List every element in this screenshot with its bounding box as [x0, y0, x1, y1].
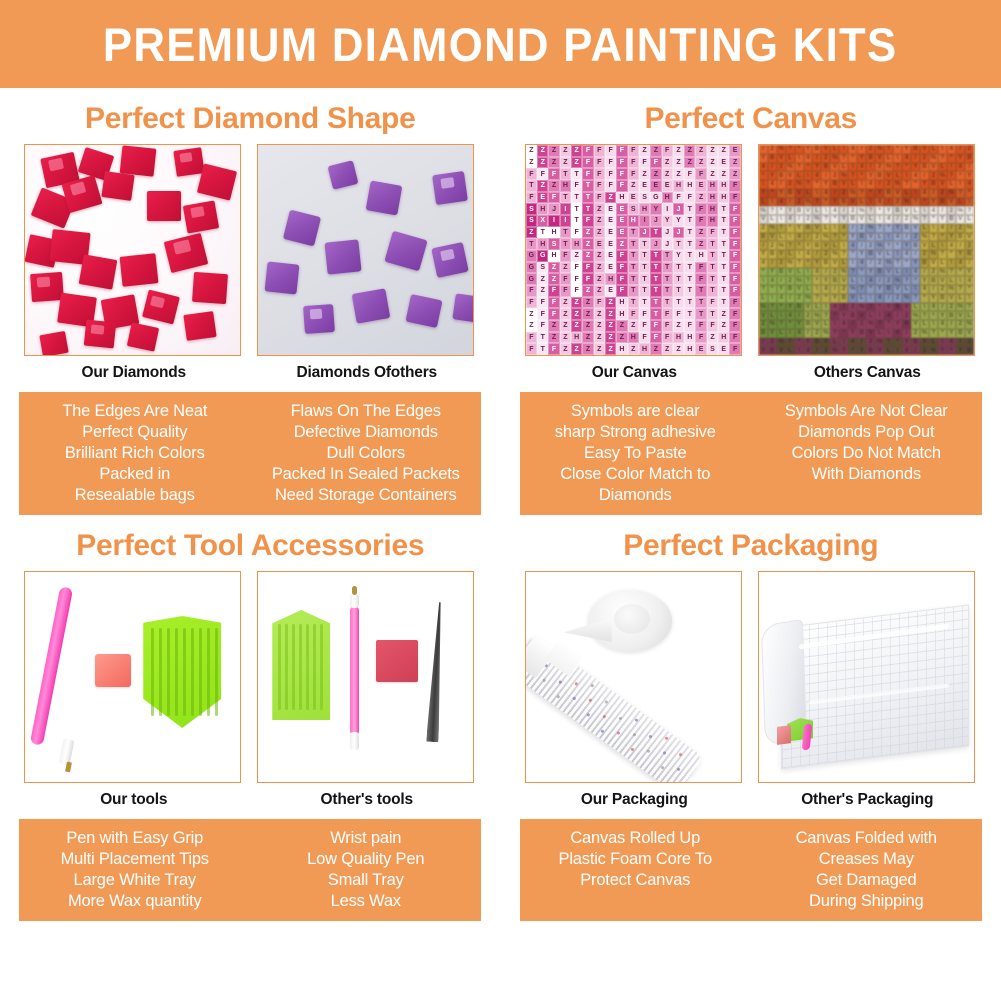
canvas-symbol-cell: T [684, 238, 695, 250]
canvas-symbol-cell: Z [560, 320, 571, 332]
canvas-symbol-cell: T [662, 273, 673, 285]
blurry-canvas-cell: V [866, 233, 875, 242]
red-diamond [147, 191, 181, 221]
blurry-canvas-cell: L [795, 171, 804, 180]
blurry-canvas-cell: / [866, 259, 875, 268]
canvas-symbol-cell: T [628, 273, 639, 285]
blurry-canvas-cell: 2 [812, 329, 821, 338]
blurry-canvas-cell: / [893, 311, 902, 320]
canvas-symbol-cell: S [628, 203, 639, 215]
canvas-symbol-cell: F [729, 320, 740, 332]
canvas-symbol-cell: F [695, 168, 706, 180]
canvas-symbol-cell: X [537, 215, 548, 227]
cell-other-diamonds: Diamonds Ofothers [257, 144, 476, 382]
canvas-symbol-cell: Z [594, 285, 605, 297]
blurry-canvas-cell: L [759, 294, 768, 303]
blurry-canvas-cell: L [866, 215, 875, 224]
canvas-symbol-cell: T [684, 308, 695, 320]
blurry-canvas-cell: L [911, 206, 920, 215]
canvas-symbol-cell: Z [537, 285, 548, 297]
blurry-canvas-cell: B [929, 276, 938, 285]
canvas-symbol-cell: H [571, 238, 582, 250]
canvas-symbol-cell: F [571, 227, 582, 239]
canvas-symbol-cell: Z [560, 308, 571, 320]
blurry-canvas-cell: 4 [804, 250, 813, 259]
canvas-symbol-cell: F [729, 203, 740, 215]
purple-square-diamonds-photo [257, 144, 474, 356]
blurry-canvas-cell: * [920, 294, 929, 303]
tray-groove [306, 624, 308, 710]
canvas-symbol-cell: T [707, 285, 718, 297]
blurry-canvas-cell: Y [956, 154, 965, 163]
blurry-canvas-cell: * [830, 311, 839, 320]
canvas-symbol-cell: H [628, 215, 639, 227]
canvas-symbol-cell: S [548, 238, 559, 250]
canvas-symbol-cell: F [729, 285, 740, 297]
blurry-canvas-cell: % [804, 294, 813, 303]
blurry-canvas-cell: Y [884, 303, 893, 312]
canvas-symbol-cell: Z [582, 332, 593, 344]
blurry-canvas-cell: V [812, 320, 821, 329]
canvas-symbol-cell: Z [560, 157, 571, 169]
blurry-canvas-cell: % [821, 329, 830, 338]
blurry-canvas-cell: % [857, 303, 866, 312]
diamond-facet [37, 276, 51, 287]
blurry-canvas-cell: 4 [875, 198, 884, 207]
canvas-symbol-cell: Z [707, 145, 718, 157]
blurry-canvas-cell: V [911, 224, 920, 233]
canvas-symbol-cell: Z [537, 273, 548, 285]
canvas-symbol-cell: H [548, 250, 559, 262]
canvas-symbol-cell: Z [718, 308, 729, 320]
canvas-symbol-cell: T [628, 297, 639, 309]
blurry-canvas-cell: V [875, 154, 884, 163]
blurry-canvas-cell: * [848, 154, 857, 163]
blurry-canvas-cell: * [893, 145, 902, 154]
blurry-canvas-cell: B [920, 163, 929, 172]
canvas-symbol-cell: Z [729, 157, 740, 169]
blurry-canvas-cell: Y [947, 329, 956, 338]
canvas-symbol-cell: E [605, 250, 616, 262]
blurry-canvas-cell: V [866, 329, 875, 338]
textline: sharp Strong adhesive [523, 422, 748, 443]
blurry-canvas-cell: B [965, 154, 974, 163]
blurry-canvas-cell: L [875, 329, 884, 338]
blurry-canvas-cell: ? [795, 259, 804, 268]
blurry-canvas-cell: L [893, 268, 902, 277]
canvas-symbol-cell: Z [594, 273, 605, 285]
textcol-our-diamonds: The Edges Are NeatPerfect QualityBrillia… [19, 401, 250, 506]
blurry-canvas-cell: V [902, 303, 911, 312]
textcol-other-diamonds: Flaws On The EdgesDefective DiamondsDull… [250, 401, 481, 506]
blurry-canvas-cell: V [965, 233, 974, 242]
blurry-canvas-cell: \ [902, 268, 911, 277]
tray-groove [278, 624, 280, 710]
blurry-canvas-cell: B [768, 250, 777, 259]
blurry-canvas-cell: \ [812, 285, 821, 294]
blurry-canvas-cell: 2 [884, 180, 893, 189]
blurry-canvas-cell: ? [839, 154, 848, 163]
blurry-canvas-cell: Y [795, 224, 804, 233]
canvas-symbol-cell: Z [571, 343, 582, 355]
blurry-canvas-cell: 4 [812, 268, 821, 277]
blurry-canvas-cell: 4 [902, 346, 911, 355]
blurry-canvas-cell: / [777, 276, 786, 285]
canvas-symbol-cell: F [707, 320, 718, 332]
canvas-symbol-cell: T [628, 238, 639, 250]
tube-cap-inner [614, 604, 650, 634]
tray-groove [215, 628, 218, 716]
canvas-symbol-cell: T [639, 297, 650, 309]
blurry-canvas-cell: B [804, 320, 813, 329]
textbox-canvas: Symbols are clearsharp Strong adhesiveEa… [520, 392, 982, 515]
tray-groove [191, 628, 194, 716]
rolled-canvas-tube-photo [525, 571, 742, 783]
blurry-canvas-cell: * [804, 163, 813, 172]
canvas-symbol-cell: F [594, 168, 605, 180]
blurry-canvas-cell: 4 [839, 320, 848, 329]
tray-groove [151, 628, 154, 716]
blurry-canvas-cell: / [830, 285, 839, 294]
textcol-our-canvas: Symbols are clearsharp Strong adhesiveEa… [520, 401, 751, 506]
textline: Small Tray [253, 870, 478, 891]
blurry-canvas-cell: % [875, 338, 884, 347]
textcol-other-packaging: Canvas Folded withCreases MayGet Damaged… [751, 828, 982, 912]
textline: Multi Placement Tips [22, 849, 247, 870]
canvas-symbol-cell: Z [571, 250, 582, 262]
blurry-canvas-cell: 2 [893, 198, 902, 207]
blurry-canvas-cell: 4 [902, 250, 911, 259]
blurry-canvas-cell: / [929, 189, 938, 198]
blurry-canvas-cell: 2 [759, 224, 768, 233]
blurry-canvas-cell: % [875, 145, 884, 154]
canvas-symbol-cell: Z [650, 343, 661, 355]
blurry-canvas-cell: V [902, 206, 911, 215]
blurry-canvas-cell: ? [830, 233, 839, 242]
blurry-canvas-cell: * [768, 285, 777, 294]
canvas-symbol-cell: F [628, 157, 639, 169]
textline: Pen with Easy Grip [22, 828, 247, 849]
blurry-canvas-cell: \ [965, 198, 974, 207]
textline: Canvas Folded with [754, 828, 979, 849]
blurry-canvas-cell: B [956, 233, 965, 242]
blurry-canvas-cell: \ [804, 171, 813, 180]
canvas-symbol-cell: Z [673, 157, 684, 169]
textbox-diamond-shape: The Edges Are NeatPerfect QualityBrillia… [19, 392, 481, 515]
blurry-canvas-cell: / [812, 346, 821, 355]
canvas-symbol-cell: F [548, 285, 559, 297]
blurry-canvas-cell: \ [884, 329, 893, 338]
blurry-canvas-cell: % [893, 276, 902, 285]
canvas-symbol-cell: F [729, 238, 740, 250]
blurry-canvas-cell: ? [920, 311, 929, 320]
blurry-canvas-cell: % [920, 233, 929, 242]
blurry-canvas-cell: 2 [911, 329, 920, 338]
blurry-canvas-cell: L [804, 285, 813, 294]
blurry-canvas-cell: 4 [965, 180, 974, 189]
blurry-canvas-cell: / [786, 198, 795, 207]
textcol-others-canvas: Symbols Are Not ClearDiamonds Pop OutCol… [751, 401, 982, 506]
canvas-symbol-cell: Z [560, 262, 571, 274]
blurry-canvas-cell: L [902, 189, 911, 198]
canvas-symbol-cell: Z [582, 250, 593, 262]
blurry-canvas-cell: V [777, 154, 786, 163]
blurry-canvas-cell: 2 [795, 294, 804, 303]
blurry-canvas-cell: / [821, 171, 830, 180]
blurry-canvas-cell: L [857, 198, 866, 207]
blurry-canvas-cell: 2 [839, 189, 848, 198]
blurry-canvas-cell: L [804, 189, 813, 198]
canvas-symbol-cell: F [537, 168, 548, 180]
blurry-canvas-cell: V [777, 250, 786, 259]
canvas-symbol-cell: F [616, 145, 627, 157]
canvas-symbol-cell: T [673, 297, 684, 309]
canvas-symbol-cell: F [526, 343, 537, 355]
canvas-symbol-cell: T [571, 215, 582, 227]
canvas-symbol-cell: Z [707, 168, 718, 180]
tray-groove [313, 624, 315, 710]
blurry-canvas-cell: / [830, 189, 839, 198]
canvas-symbol-cell: T [639, 238, 650, 250]
canvas-symbol-cell: T [650, 250, 661, 262]
blurry-canvas-cell: * [848, 346, 857, 355]
canvas-symbol-cell: E [639, 180, 650, 192]
purple-diamond [265, 261, 300, 294]
canvas-symbol-cell: Z [695, 238, 706, 250]
blurry-canvas-cell: 4 [920, 285, 929, 294]
blurry-canvas-cell: B [938, 294, 947, 303]
canvas-symbol-cell: Z [662, 168, 673, 180]
blurry-canvas-cell: L [920, 320, 929, 329]
purple-diamond [352, 288, 391, 323]
blurry-canvas-cell: 4 [893, 329, 902, 338]
canvas-symbol-cell: F [560, 285, 571, 297]
textline: Easy To Paste [523, 443, 748, 464]
blurry-canvas-cell: 2 [920, 346, 929, 355]
blurry-canvas-cell: ? [947, 268, 956, 277]
blurry-canvas-cell: Y [812, 163, 821, 172]
blurry-canvas-cell: L [929, 241, 938, 250]
caption-others-canvas: Others Canvas [758, 364, 977, 382]
blurry-canvas-cell: Y [965, 268, 974, 277]
canvas-symbol-cell: E [718, 343, 729, 355]
canvas-symbol-cell: Z [560, 332, 571, 344]
blurry-canvas-cell: Y [920, 276, 929, 285]
blurry-canvas-cell: / [902, 329, 911, 338]
canvas-symbol-cell: Z [616, 238, 627, 250]
blurry-canvas-cell: 4 [938, 224, 947, 233]
blurry-canvas-cell: * [902, 163, 911, 172]
blurry-canvas-cell: \ [848, 259, 857, 268]
canvas-symbol-cell: F [548, 168, 559, 180]
blurry-canvas-cell: / [947, 224, 956, 233]
blurry-canvas-cell: L [947, 180, 956, 189]
canvas-symbol-cell: F [571, 262, 582, 274]
blurry-canvas-cell: 4 [821, 189, 830, 198]
blurry-canvas-cell: 2 [848, 303, 857, 312]
photo-pair-diamond-shape: Our Diamonds Diamonds Ofothers [0, 144, 501, 382]
blurry-canvas-cell: ? [938, 346, 947, 355]
blurry-canvas-cell: / [875, 276, 884, 285]
blurry-canvas-cell: % [920, 329, 929, 338]
blurry-canvas-cell: ? [875, 320, 884, 329]
canvas-symbol-cell: Z [582, 227, 593, 239]
blurry-canvas-cell: Y [947, 233, 956, 242]
canvas-symbol-cell: F [695, 332, 706, 344]
blurry-canvas-cell: * [839, 233, 848, 242]
blurry-canvas-cell: L [786, 346, 795, 355]
blurry-canvas-cell: ? [812, 294, 821, 303]
canvas-symbol-cell: I [560, 215, 571, 227]
canvas-symbol-cell: T [718, 215, 729, 227]
blurry-canvas-cell: % [848, 189, 857, 198]
canvas-symbol-cell: T [718, 203, 729, 215]
canvas-symbol-cell: F [616, 250, 627, 262]
blurry-canvas-cell: L [786, 250, 795, 259]
canvas-symbol-cell: Z [594, 320, 605, 332]
photo-pair-canvas: ZZZZZFFFFFZZFZZZZZEZZZZZFFFFFFFZZZZZEZFF… [501, 144, 1001, 382]
textline: Creases May [754, 849, 979, 870]
blurry-canvas-cell: 2 [929, 268, 938, 277]
canvas-symbol-cell: H [537, 203, 548, 215]
blurry-canvas-cell: \ [768, 294, 777, 303]
canvas-symbol-cell: Z [594, 343, 605, 355]
blurry-canvas-cell: B [902, 320, 911, 329]
blurry-canvas-cell: B [947, 215, 956, 224]
section-canvas: Perfect Canvas ZZZZZFFFFFZZFZZZZZEZZZZZF… [501, 88, 1001, 515]
blurry-canvas-cell: Y [848, 233, 857, 242]
blurry-canvas-cell: % [911, 311, 920, 320]
blurry-canvas-cell: 4 [768, 180, 777, 189]
canvas-symbol-cell: F [560, 273, 571, 285]
blurry-canvas-cell: Y [902, 145, 911, 154]
blurry-canvas-cell: Y [795, 320, 804, 329]
blurry-canvas-cell: L [848, 180, 857, 189]
canvas-symbol-cell: F [650, 157, 661, 169]
blurry-canvas-cell: V [956, 311, 965, 320]
canvas-symbol-cell: T [684, 273, 695, 285]
section-title-canvas: Perfect Canvas [501, 102, 1001, 136]
blurry-canvas-cell: \ [911, 189, 920, 198]
canvas-symbol-cell: E [605, 215, 616, 227]
blurry-canvas-cell: V [848, 294, 857, 303]
blurry-canvas-cell: Y [804, 241, 813, 250]
blurry-canvas-cell: Y [830, 198, 839, 207]
canvas-symbol-cell: Z [673, 168, 684, 180]
canvas-symbol-cell: F [548, 308, 559, 320]
canvas-symbol-cell: F [548, 343, 559, 355]
blurry-canvas-cell: 4 [911, 268, 920, 277]
canvas-symbol-cell: F [673, 308, 684, 320]
blurry-canvas-cell: / [812, 154, 821, 163]
blurry-canvas-cell: ? [786, 145, 795, 154]
canvas-symbol-cell: T [662, 262, 673, 274]
blurry-canvas-cell: Y [875, 285, 884, 294]
canvas-symbol-cell: F [616, 168, 627, 180]
canvas-symbol-cell: Z [594, 227, 605, 239]
canvas-symbol-cell: H [616, 297, 627, 309]
blurry-canvas-cell: \ [920, 303, 929, 312]
blurry-canvas-cell: L [947, 276, 956, 285]
blurry-canvas-cell: Y [875, 189, 884, 198]
blurry-canvas-cell: / [947, 320, 956, 329]
canvas-symbol-cell: F [673, 192, 684, 204]
textline: Packed In Sealed Packets [253, 464, 478, 485]
canvas-symbol-cell: T [650, 308, 661, 320]
canvas-symbol-cell: E [616, 215, 627, 227]
blurry-canvas-cell: % [947, 189, 956, 198]
blurry-canvas-cell: 2 [768, 241, 777, 250]
blurry-canvas-cell: ? [786, 338, 795, 347]
textline: Less Wax [253, 891, 478, 912]
blurry-canvas-cell: V [929, 259, 938, 268]
textline: During Shipping [754, 891, 979, 912]
canvas-symbol-cell: T [684, 297, 695, 309]
blurry-canvas-cell: % [830, 346, 839, 355]
blurry-canvas-cell: B [866, 154, 875, 163]
canvas-symbol-cell: T [707, 308, 718, 320]
blurry-canvas-cell: \ [857, 180, 866, 189]
blurry-canvas-cell: 2 [956, 320, 965, 329]
canvas-symbol-cell: J [662, 227, 673, 239]
blurry-canvas-cell: 4 [884, 215, 893, 224]
blurry-canvas-cell: L [821, 224, 830, 233]
blurry-canvas-cell: ? [938, 154, 947, 163]
canvas-symbol-cell: F [729, 250, 740, 262]
blurry-canvas-cell: V [947, 198, 956, 207]
blurry-canvas-cell: Y [911, 259, 920, 268]
blurry-canvas-cell: 4 [875, 294, 884, 303]
blurry-canvas-cell: B [768, 346, 777, 355]
blurry-canvas-cell: Y [786, 206, 795, 215]
canvas-symbol-cell: F [729, 308, 740, 320]
blurry-canvas-cell: V [911, 320, 920, 329]
cell-other-packaging: Other's Packaging [758, 571, 977, 809]
blurry-canvas-cell: \ [821, 206, 830, 215]
blurry-canvas-cell: / [965, 163, 974, 172]
red-diamond [40, 331, 69, 356]
blurry-canvas-cell: B [965, 346, 974, 355]
blurry-canvas-cell: 2 [956, 224, 965, 233]
canvas-symbol-cell: F [684, 320, 695, 332]
section-diamond-shape: Perfect Diamond Shape Our Diamonds Diamo… [0, 88, 501, 515]
red-diamond [102, 171, 135, 201]
canvas-symbol-cell: Z [526, 308, 537, 320]
canvas-symbol-cell: Z [594, 215, 605, 227]
blurry-canvas-cell: L [848, 276, 857, 285]
blurry-canvas-cell: ? [956, 189, 965, 198]
canvas-symbol-cell: T [718, 285, 729, 297]
canvas-symbol-cell: T [560, 238, 571, 250]
blurry-canvas-cell: B [812, 241, 821, 250]
canvas-symbol-cell: F [639, 320, 650, 332]
canvas-symbol-cell: Z [616, 320, 627, 332]
blurry-canvas-cell: B [965, 250, 974, 259]
canvas-symbol-cell: Z [673, 320, 684, 332]
canvas-symbol-cell: H [684, 343, 695, 355]
cell-other-tools: Other's tools [257, 571, 476, 809]
blurry-canvas-cell: Y [929, 198, 938, 207]
canvas-symbol-cell: F [537, 320, 548, 332]
blurry-canvas-cell: 2 [821, 250, 830, 259]
blurry-canvas-cell: V [956, 215, 965, 224]
blurry-canvas-cell: % [866, 224, 875, 233]
infographic-page: PREMIUM DIAMOND PAINTING KITS Perfect Di… [0, 0, 1001, 1001]
peeking-wax [777, 725, 791, 745]
blurry-canvas-cell: B [947, 311, 956, 320]
canvas-symbol-cell: Z [616, 332, 627, 344]
canvas-symbol-cell: T [718, 238, 729, 250]
